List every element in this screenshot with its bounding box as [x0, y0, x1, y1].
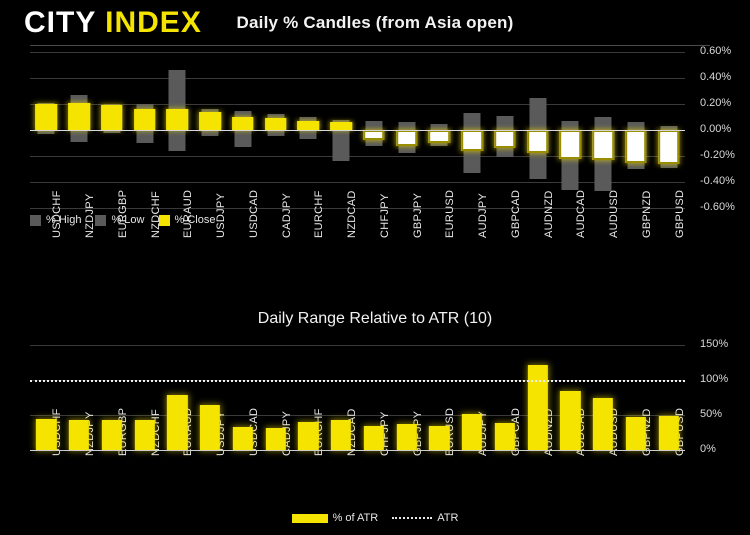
chart2-gridline	[30, 450, 685, 451]
chart1-legend: % High% Low% Close	[30, 214, 215, 226]
chart2-y-tick-label: 50%	[700, 408, 722, 420]
atr-bar	[331, 420, 351, 450]
candle-close-bar	[625, 130, 647, 163]
atr-bar	[298, 422, 318, 450]
atr-bar	[527, 365, 547, 450]
header-divider	[30, 45, 710, 46]
legend-swatch	[95, 215, 106, 226]
legend-label: % High	[46, 214, 81, 226]
candle-close-bar	[461, 130, 483, 151]
chart1-x-tick-label: AUDJPY	[477, 193, 489, 238]
candle-close-bar	[199, 112, 221, 130]
legend-label: % Low	[111, 214, 144, 226]
atr-bar	[200, 405, 220, 451]
atr-bar	[462, 414, 482, 450]
candle-close-bar	[592, 130, 614, 160]
atr-bar	[429, 426, 449, 451]
atr-bar	[396, 424, 416, 450]
chart1-y-tick-label: -0.40%	[700, 175, 735, 187]
candle-close-bar	[68, 103, 90, 130]
chart1-y-tick-label: 0.60%	[700, 45, 731, 57]
chart1-x-tick-label: GBPJPY	[412, 193, 424, 238]
candle-close-bar	[658, 130, 680, 164]
daily-percent-candles-plot	[30, 52, 685, 208]
atr-bar	[626, 417, 646, 450]
atr-bar	[69, 420, 89, 450]
legend-label: % of ATR	[333, 512, 379, 524]
chart1-x-tick-label: NZDCAD	[346, 190, 358, 238]
chart1-x-tick-label: GBPCAD	[510, 190, 522, 238]
candle-close-bar	[101, 105, 123, 130]
atr-bar	[36, 419, 56, 451]
atr-bar	[658, 416, 678, 450]
chart2-y-tick-label: 100%	[700, 373, 728, 385]
chart1-x-tick-label: AUDCAD	[575, 190, 587, 238]
legend-swatch	[159, 215, 170, 226]
chart1-x-tick-label: AUDNZD	[543, 190, 555, 238]
header: CITY INDEX Daily % Candles (from Asia op…	[0, 0, 750, 46]
legend-item: % Low	[95, 214, 144, 226]
atr-bar	[134, 420, 154, 450]
chart1-x-tick-label: EURCHF	[313, 190, 325, 238]
chart1-x-tick-label: AUDUSD	[608, 190, 620, 238]
chart2-y-tick-label: 150%	[700, 338, 728, 350]
chart1-x-tick-label: GBPUSD	[674, 190, 686, 238]
legend-item: % High	[30, 214, 81, 226]
chart1-x-tick-label: EURUSD	[444, 190, 456, 238]
candle-close-bar	[232, 117, 254, 130]
dashboard-root: CITY INDEX Daily % Candles (from Asia op…	[0, 0, 750, 535]
chart2-legend: % of ATRATR	[0, 512, 750, 524]
atr-bar	[167, 395, 187, 450]
legend-label: % Close	[175, 214, 216, 226]
candle-close-bar	[265, 118, 287, 130]
legend-swatch	[292, 514, 328, 523]
atr-bar	[364, 426, 384, 451]
chart1-y-tick-label: 0.00%	[700, 123, 731, 135]
chart2-y-tick-label: 0%	[700, 443, 716, 455]
chart1-x-tick-label: CADJPY	[281, 193, 293, 238]
candle-close-bar	[363, 130, 385, 140]
atr-bar	[233, 427, 253, 450]
candle-close-bar	[36, 104, 58, 130]
legend-item: % Close	[159, 214, 216, 226]
chart1-gridline	[30, 130, 685, 131]
atr-bar	[102, 420, 122, 450]
candle-close-bar	[134, 109, 156, 130]
candle-close-bar	[330, 122, 352, 130]
chart1-x-tick-label: USDCAD	[248, 190, 260, 238]
candle-close-bar	[396, 130, 418, 146]
legend-swatch	[392, 517, 432, 519]
atr-bar	[265, 428, 285, 450]
chart1-y-tick-label: 0.40%	[700, 71, 731, 83]
candle-close-bar	[527, 130, 549, 153]
candle-close-bar	[429, 130, 451, 143]
atr-bar	[495, 423, 515, 450]
chart1-x-tick-label: USDJPY	[215, 193, 227, 238]
atr-bar	[593, 398, 613, 451]
candle-close-bar	[560, 130, 582, 159]
legend-label: ATR	[437, 512, 458, 524]
chart1-y-tick-label: 0.20%	[700, 97, 731, 109]
candle-close-bar	[167, 109, 189, 130]
atr-reference-line	[30, 380, 685, 382]
candle-close-bar	[298, 121, 320, 130]
atr-bar	[560, 391, 580, 451]
chart2-title: Daily Range Relative to ATR (10)	[0, 310, 750, 328]
legend-item: % of ATR	[292, 512, 379, 524]
legend-item: ATR	[392, 512, 458, 524]
candle-close-bar	[494, 130, 516, 148]
chart1-x-tick-label: GBPNZD	[641, 190, 653, 238]
chart1-x-tick-label: CHFJPY	[379, 193, 391, 238]
chart1-title: Daily % Candles (from Asia open)	[0, 13, 750, 33]
legend-swatch	[30, 215, 41, 226]
chart1-y-tick-label: -0.60%	[700, 201, 735, 213]
chart1-y-tick-label: -0.20%	[700, 149, 735, 161]
